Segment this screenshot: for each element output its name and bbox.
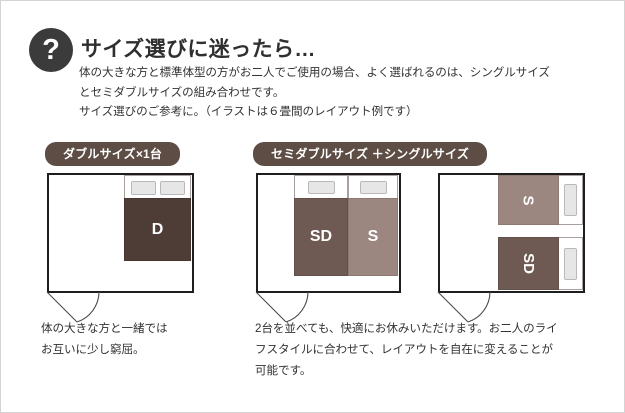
badge-double-size: ダブルサイズ×1台: [45, 142, 180, 166]
room-diagram-double: D: [47, 173, 194, 293]
bed-label-sd: SD: [520, 253, 537, 274]
headboard: [294, 175, 348, 198]
caption-left-line-1: 体の大きな方と一緒では: [41, 318, 241, 339]
intro-line-2: とセミダブルサイズの組み合わせです。: [79, 83, 609, 103]
bed-semi-double: SD: [294, 175, 348, 276]
headboard: [348, 175, 398, 198]
bed-single-rotated: S: [498, 175, 583, 225]
headboard: [559, 175, 583, 225]
mattress-single: S: [498, 175, 559, 225]
intro-paragraph: 体の大きな方と標準体型の方がお二人でご使用の場合、よく選ばれるのは、シングルサイ…: [79, 63, 609, 122]
pillow-icon: [131, 181, 156, 195]
headboard: [124, 175, 191, 198]
caption-right-line-1: 2台を並べても、快適にお休みいただけます。お二人のライ: [255, 318, 595, 339]
intro-line-1: 体の大きな方と標準体型の方がお二人でご使用の場合、よく選ばれるのは、シングルサイ…: [79, 63, 609, 83]
question-mark-icon: ?: [29, 28, 73, 72]
room-diagram-sd-plus-s: SD S: [256, 173, 401, 293]
mattress-semi-double: SD: [294, 198, 348, 276]
infographic-root: ? サイズ選びに迷ったら… 体の大きな方と標準体型の方がお二人でご使用の場合、よ…: [0, 0, 625, 413]
intro-line-3: サイズ選びのご参考に。（イラストは６畳間のレイアウト例です）: [79, 102, 609, 122]
pillow-icon: [360, 181, 387, 194]
page-title: サイズ選びに迷ったら…: [81, 33, 316, 63]
caption-right-line-2: フスタイルに合わせて、レイアウトを自在に変えることが: [255, 339, 595, 360]
bed-double: D: [124, 175, 191, 261]
bed-label-s: S: [368, 228, 379, 246]
caption-left-line-2: お互いに少し窮屈。: [41, 339, 241, 360]
bed-label-sd: SD: [310, 228, 332, 246]
caption-right-line-3: 可能です。: [255, 360, 595, 381]
room-diagram-sd-s-separated: S SD: [438, 173, 585, 293]
pillow-icon: [160, 181, 185, 195]
badge-semidouble-plus-single: セミダブルサイズ ＋シングルサイズ: [253, 142, 487, 166]
bed-single: S: [348, 175, 398, 276]
bed-semi-double-rotated: SD: [498, 237, 583, 290]
mattress-double: D: [124, 198, 191, 261]
bed-label-d: D: [152, 221, 164, 239]
mattress-single: S: [348, 198, 398, 276]
bed-label-s: S: [520, 195, 537, 205]
headboard: [559, 237, 583, 290]
pillow-icon: [564, 184, 577, 216]
caption-sd-plus-s: 2台を並べても、快適にお休みいただけます。お二人のライ フスタイルに合わせて、レ…: [255, 318, 595, 381]
pillow-icon: [308, 181, 335, 194]
mattress-semi-double: SD: [498, 237, 559, 290]
caption-double: 体の大きな方と一緒では お互いに少し窮屈。: [41, 318, 241, 360]
pillow-icon: [564, 248, 577, 280]
